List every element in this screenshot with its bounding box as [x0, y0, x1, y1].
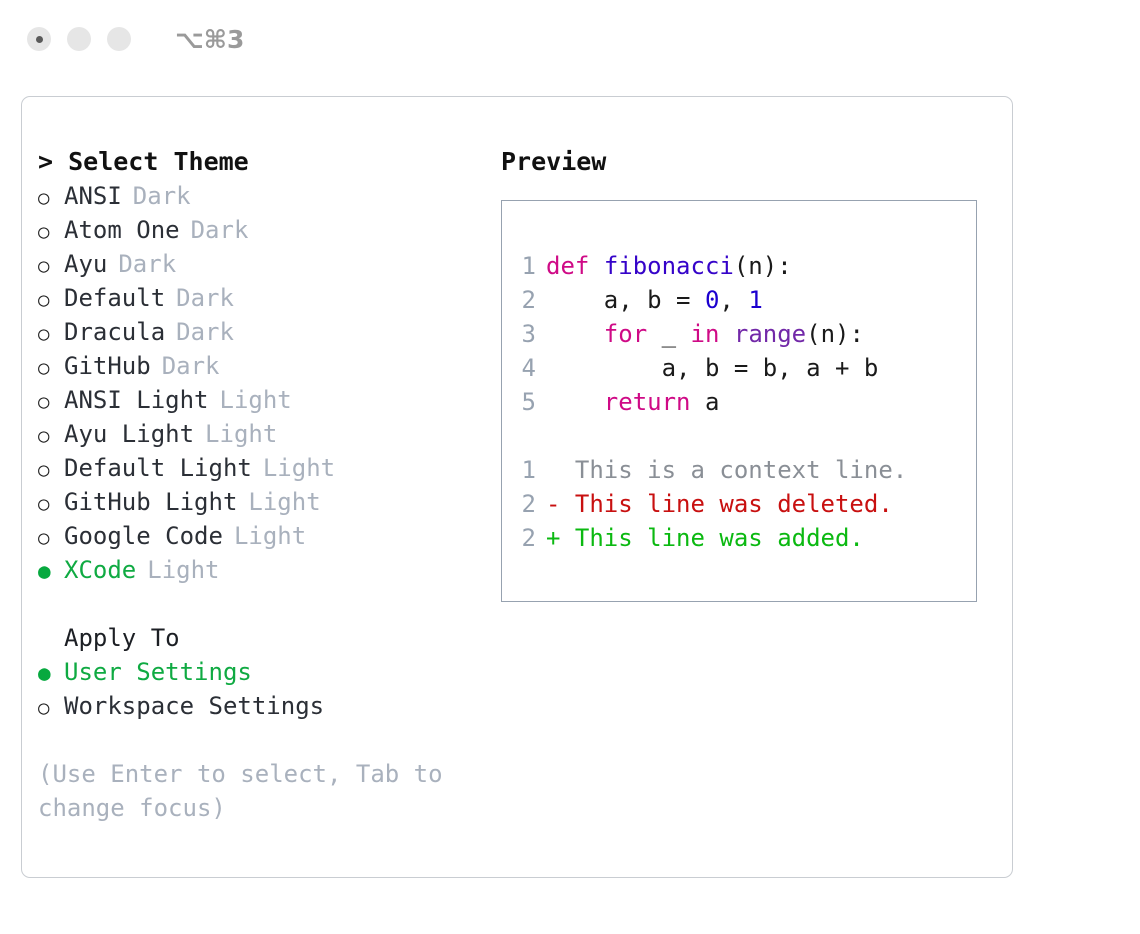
code-line-number: 2: [502, 283, 546, 317]
radio-unselected-icon[interactable]: ○: [38, 521, 64, 555]
code-line-content: return a: [546, 385, 719, 419]
code-token: fibonacci: [604, 252, 734, 280]
code-token: [589, 252, 603, 280]
theme-variant-tag: Dark: [133, 179, 191, 213]
code-line-content: - This line was deleted.: [546, 487, 893, 521]
code-token: def: [546, 252, 589, 280]
keyboard-hint-text: (Use Enter to select, Tab to change focu…: [38, 757, 458, 825]
code-token: ,: [719, 286, 748, 314]
code-line-number: 2: [502, 487, 546, 521]
code-line: 3 for _ in range(n):: [502, 317, 976, 351]
theme-name-label: Atom One: [64, 213, 180, 247]
theme-variant-tag: Light: [205, 417, 277, 451]
code-line-number: 5: [502, 385, 546, 419]
code-token: (n):: [734, 252, 792, 280]
traffic-light-3-icon[interactable]: [107, 27, 131, 51]
select-theme-heading: > Select Theme: [38, 145, 498, 179]
theme-variant-tag: Light: [147, 553, 219, 587]
code-token: a, b = b, a + b: [546, 354, 878, 382]
theme-name-label: ANSI Light: [64, 383, 209, 417]
apply-to-list[interactable]: ●User Settings○Workspace Settings: [38, 655, 498, 723]
theme-list-item[interactable]: ○DraculaDark: [38, 315, 498, 349]
theme-list-item[interactable]: ○DefaultDark: [38, 281, 498, 315]
theme-list-item[interactable]: ○ANSI LightLight: [38, 383, 498, 417]
radio-selected-icon[interactable]: ●: [38, 656, 64, 690]
code-line-content: for _ in range(n):: [546, 317, 864, 351]
code-line: 4 a, b = b, a + b: [502, 351, 976, 385]
code-token: a, b =: [546, 286, 705, 314]
theme-name-label: GitHub: [64, 349, 151, 383]
code-token: 0: [705, 286, 719, 314]
theme-variant-tag: Dark: [162, 349, 220, 383]
code-token: in: [691, 320, 720, 348]
preview-pane: Preview 1def fibonacci(n):2 a, b = 0, 13…: [501, 145, 1001, 602]
apply-to-heading: Apply To: [64, 621, 498, 655]
main-card: > Select Theme ○ANSIDark○Atom OneDark○Ay…: [21, 96, 1013, 878]
theme-name-label: GitHub Light: [64, 485, 237, 519]
code-token: [546, 388, 604, 416]
theme-name-label: ANSI: [64, 179, 122, 213]
theme-name-label: Ayu Light: [64, 417, 194, 451]
code-line-number: 3: [502, 317, 546, 351]
theme-variant-tag: Dark: [176, 281, 234, 315]
theme-variant-tag: Dark: [191, 213, 249, 247]
theme-variant-tag: Dark: [176, 315, 234, 349]
theme-list-item[interactable]: ○GitHub LightLight: [38, 485, 498, 519]
radio-unselected-icon[interactable]: ○: [38, 181, 64, 215]
code-line: 2+ This line was added.: [502, 521, 976, 555]
radio-unselected-icon[interactable]: ○: [38, 317, 64, 351]
code-line: 2 a, b = 0, 1: [502, 283, 976, 317]
theme-name-label: XCode: [64, 553, 136, 587]
radio-unselected-icon[interactable]: ○: [38, 351, 64, 385]
code-line-content: a, b = 0, 1: [546, 283, 763, 317]
radio-unselected-icon[interactable]: ○: [38, 249, 64, 283]
theme-list-item[interactable]: ●XCodeLight: [38, 553, 498, 587]
radio-unselected-icon[interactable]: ○: [38, 691, 64, 725]
theme-name-label: Google Code: [64, 519, 223, 553]
apply-to-option[interactable]: ○Workspace Settings: [38, 689, 498, 723]
theme-list-item[interactable]: ○ANSIDark: [38, 179, 498, 213]
code-token: [719, 320, 733, 348]
theme-list[interactable]: ○ANSIDark○Atom OneDark○AyuDark○DefaultDa…: [38, 179, 498, 587]
code-token: _: [647, 320, 690, 348]
traffic-light-active-icon[interactable]: [27, 27, 51, 51]
code-token: This is a context line.: [546, 456, 907, 484]
theme-list-item[interactable]: ○Google CodeLight: [38, 519, 498, 553]
code-line: 5 return a: [502, 385, 976, 419]
theme-variant-tag: Light: [234, 519, 306, 553]
theme-variant-tag: Light: [220, 383, 292, 417]
code-line: 1 This is a context line.: [502, 453, 976, 487]
code-line-number: 1: [502, 249, 546, 283]
theme-name-label: Default: [64, 281, 165, 315]
theme-variant-tag: Light: [263, 451, 335, 485]
radio-unselected-icon[interactable]: ○: [38, 385, 64, 419]
code-token: for: [604, 320, 647, 348]
theme-name-label: Default Light: [64, 451, 252, 485]
radio-unselected-icon[interactable]: ○: [38, 453, 64, 487]
radio-unselected-icon[interactable]: ○: [38, 215, 64, 249]
code-token: return: [604, 388, 691, 416]
code-line-number: 1: [502, 453, 546, 487]
app-window: ⌥⌘3 > Select Theme ○ANSIDark○Atom OneDar…: [0, 0, 1140, 934]
code-token: - This line was deleted.: [546, 490, 893, 518]
theme-variant-tag: Light: [248, 485, 320, 519]
code-token: (n):: [806, 320, 864, 348]
theme-selector-pane: > Select Theme ○ANSIDark○Atom OneDark○Ay…: [38, 145, 498, 825]
code-token: range: [734, 320, 806, 348]
theme-name-label: Dracula: [64, 315, 165, 349]
code-preview-box: 1def fibonacci(n):2 a, b = 0, 13 for _ i…: [501, 200, 977, 602]
radio-unselected-icon[interactable]: ○: [38, 487, 64, 521]
theme-list-item[interactable]: ○Ayu LightLight: [38, 417, 498, 451]
theme-name-label: Ayu: [64, 247, 107, 281]
code-line-content: + This line was added.: [546, 521, 864, 555]
title-bar: ⌥⌘3: [0, 0, 1140, 78]
code-line: 1def fibonacci(n):: [502, 249, 976, 283]
radio-unselected-icon[interactable]: ○: [38, 283, 64, 317]
code-line-number: [502, 419, 546, 453]
code-line-number: 4: [502, 351, 546, 385]
code-token: + This line was added.: [546, 524, 864, 552]
code-line-content: def fibonacci(n):: [546, 249, 792, 283]
panes-container: > Select Theme ○ANSIDark○Atom OneDark○Ay…: [22, 97, 1012, 877]
code-line-content: This is a context line.: [546, 453, 907, 487]
apply-to-label: Workspace Settings: [64, 689, 324, 723]
theme-list-item[interactable]: ○Atom OneDark: [38, 213, 498, 247]
code-token: a: [691, 388, 720, 416]
code-line-number: 2: [502, 521, 546, 555]
keyboard-shortcut-label: ⌥⌘3: [175, 25, 244, 54]
theme-list-item[interactable]: ○Default LightLight: [38, 451, 498, 485]
traffic-light-dot-inner: [36, 36, 43, 43]
theme-list-item[interactable]: ○AyuDark: [38, 247, 498, 281]
apply-to-label: User Settings: [64, 655, 252, 689]
traffic-light-2-icon[interactable]: [67, 27, 91, 51]
apply-to-option[interactable]: ●User Settings: [38, 655, 498, 689]
radio-selected-icon[interactable]: ●: [38, 554, 64, 588]
code-line-content: a, b = b, a + b: [546, 351, 878, 385]
code-line: 2- This line was deleted.: [502, 487, 976, 521]
code-line: [502, 419, 976, 453]
preview-heading: Preview: [501, 145, 1001, 179]
code-token: [546, 320, 604, 348]
code-token: 1: [748, 286, 762, 314]
theme-list-item[interactable]: ○GitHubDark: [38, 349, 498, 383]
theme-variant-tag: Dark: [118, 247, 176, 281]
radio-unselected-icon[interactable]: ○: [38, 419, 64, 453]
